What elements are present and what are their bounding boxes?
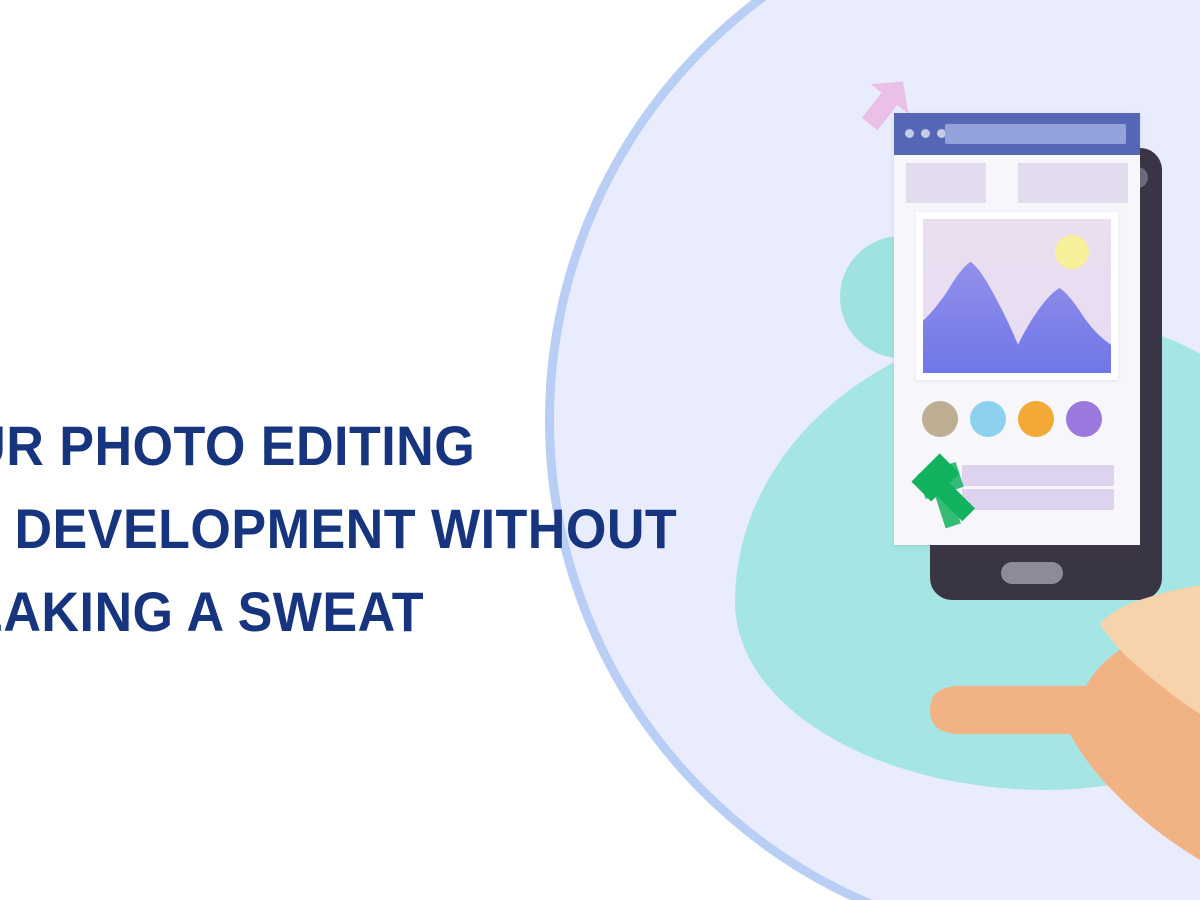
address-bar[interactable] xyxy=(945,124,1126,144)
window-controls[interactable] xyxy=(905,129,946,138)
hand-holding-phone xyxy=(900,520,1200,900)
promo-banner: YOUR PHOTO EDITING APP DEVELOPMENT WITHO… xyxy=(0,0,1200,900)
headline-line-3: BREAKING A SWEAT xyxy=(0,570,543,653)
browser-titlebar xyxy=(894,113,1140,155)
image-placeholder-icon xyxy=(923,219,1111,373)
photo-frame xyxy=(916,212,1118,380)
nav-placeholder-right[interactable] xyxy=(1018,163,1128,203)
swatch-taupe[interactable] xyxy=(922,401,958,437)
swatch-blue[interactable] xyxy=(970,401,1006,437)
nav-placeholder-left[interactable] xyxy=(906,163,986,203)
window-control-dot[interactable] xyxy=(921,129,930,138)
headline-line-1: YOUR PHOTO EDITING xyxy=(0,404,543,487)
swatch-purple[interactable] xyxy=(1066,401,1102,437)
window-control-dot[interactable] xyxy=(905,129,914,138)
swatch-orange[interactable] xyxy=(1018,401,1054,437)
color-swatch-row[interactable] xyxy=(922,401,1102,437)
browser-nav-row xyxy=(894,163,1140,203)
headline-line-2: APP DEVELOPMENT WITHOUT xyxy=(0,487,543,570)
page-title: YOUR PHOTO EDITING APP DEVELOPMENT WITHO… xyxy=(0,404,543,653)
mountain-icon xyxy=(923,253,1111,373)
